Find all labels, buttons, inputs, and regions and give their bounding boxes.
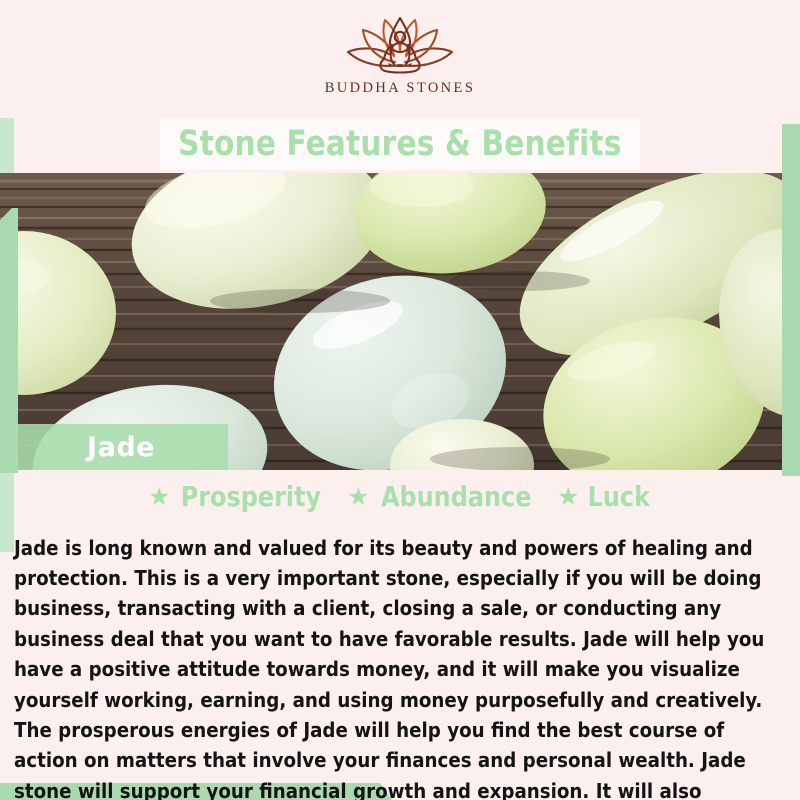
- keyword-label: Abundance: [381, 483, 531, 511]
- stone-info-card: BUDDHA STONES Stone Features & Benefits: [0, 0, 800, 800]
- stone-description: Jade is long known and valued for its be…: [14, 533, 774, 800]
- keyword-list: ★ Prosperity ★ Abundance ★ Luck: [0, 480, 800, 514]
- stone-name-label: Jade: [87, 432, 155, 463]
- stone-name-badge: Jade: [14, 424, 228, 470]
- keyword-item-luck: ★ Luck: [557, 483, 652, 511]
- keyword-item-abundance: ★ Abundance: [347, 483, 535, 511]
- page-title: Stone Features & Benefits: [178, 127, 621, 162]
- star-icon: ★: [347, 485, 369, 510]
- brand-name: BUDDHA STONES: [325, 80, 476, 97]
- decor-bar-right: [782, 124, 800, 476]
- star-icon: ★: [557, 485, 579, 510]
- lotus-meditation-icon: [337, 14, 463, 76]
- keyword-label: Prosperity: [181, 483, 321, 511]
- star-icon: ★: [148, 485, 170, 510]
- keyword-item-prosperity: ★ Prosperity: [148, 483, 325, 511]
- keyword-label: Luck: [588, 483, 650, 511]
- title-bar: Stone Features & Benefits: [160, 118, 640, 170]
- brand-header: BUDDHA STONES: [0, 0, 800, 118]
